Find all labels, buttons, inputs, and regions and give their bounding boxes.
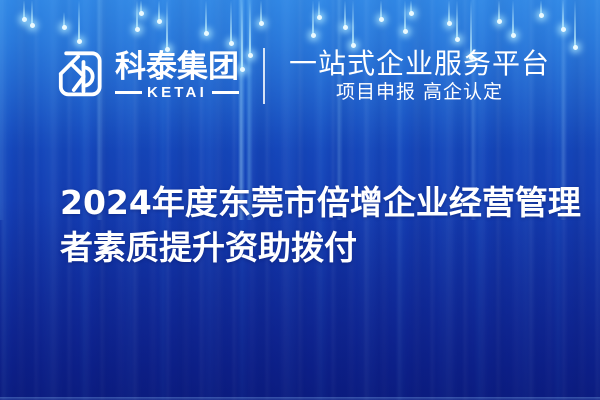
light-particle-icon xyxy=(260,0,262,24)
light-particle-icon xyxy=(512,0,514,36)
light-particle-icon xyxy=(31,0,33,26)
brand-name-latin: KETAI xyxy=(147,85,207,100)
light-particle-icon xyxy=(136,0,138,30)
dash-right-icon xyxy=(212,91,239,94)
main-title-wrap: 2024年度东莞市倍增企业经营管理者素质提升资助拨付 xyxy=(60,158,582,292)
header-vertical-divider xyxy=(263,48,265,104)
page-title: 2024年度东莞市倍增企业经营管理者素质提升资助拨付 xyxy=(60,180,582,270)
brand-latin-row: KETAI xyxy=(115,85,239,100)
brand-name-cn: 科泰集团 xyxy=(115,52,239,83)
light-particle-icon xyxy=(380,0,382,20)
light-particle-icon xyxy=(158,0,160,22)
dash-left-icon xyxy=(115,91,142,94)
light-particle-icon xyxy=(78,0,80,42)
light-particle-icon xyxy=(562,0,564,30)
tagline-primary: 一站式企业服务平台 xyxy=(289,49,550,78)
light-particle-icon xyxy=(448,0,450,24)
promo-banner: 科泰集团 KETAI 一站式企业服务平台 项目申报 高企认定 2024年度东莞市… xyxy=(0,0,600,400)
light-particle-icon xyxy=(318,0,320,18)
light-particle-icon xyxy=(344,0,346,28)
light-particle-icon xyxy=(404,0,406,32)
tagline-block: 一站式企业服务平台 项目申报 高企认定 xyxy=(289,49,550,102)
light-particle-icon xyxy=(23,0,25,20)
light-particle-icon xyxy=(312,0,314,36)
light-particle-icon xyxy=(540,0,542,16)
light-particle-icon xyxy=(140,0,142,14)
light-particle-icon xyxy=(230,0,232,44)
ketai-kp-monogram-diamond-icon xyxy=(50,49,104,103)
brand-wordmark: 科泰集团 KETAI xyxy=(115,52,239,100)
banner-header: 科泰集团 KETAI 一站式企业服务平台 项目申报 高企认定 xyxy=(0,40,600,112)
light-particle-icon xyxy=(63,12,65,28)
light-particle-icon xyxy=(498,0,500,22)
light-particle-icon xyxy=(410,0,412,14)
light-particle-icon xyxy=(456,0,458,40)
brand-logo: 科泰集团 KETAI xyxy=(50,49,239,103)
light-particle-icon xyxy=(205,0,207,34)
tagline-secondary: 项目申报 高企认定 xyxy=(336,82,503,103)
